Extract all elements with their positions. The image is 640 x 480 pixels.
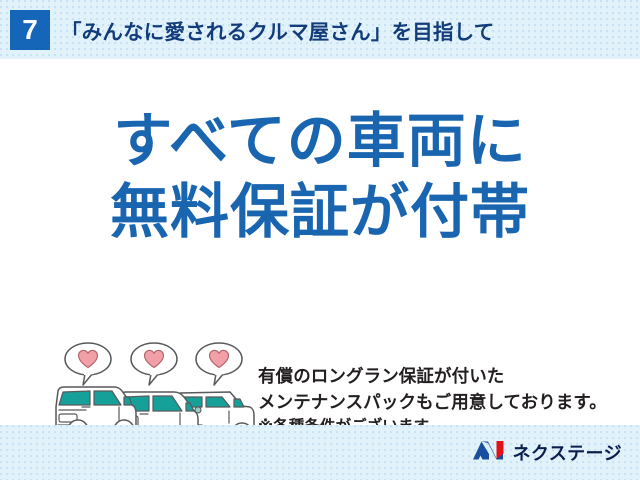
- main-content: すべての車両に 無料保証が付帯: [0, 59, 640, 425]
- header-content: 7 「みんなに愛されるクルマ屋さん」を目指して: [0, 0, 640, 59]
- note-line-1: 有償のロングラン保証が付いた: [258, 364, 630, 390]
- note-line-2: メンテナンスパックもご用意しております。: [258, 390, 630, 416]
- headline-line-2: 無料保証が付帯: [0, 177, 640, 248]
- lower-row: 有償のロングラン保証が付いた メンテナンスパックもご用意しております。 ※各種条…: [0, 281, 640, 411]
- header-band: 7 「みんなに愛されるクルマ屋さん」を目指して: [0, 0, 640, 59]
- header-title: 「みんなに愛されるクルマ屋さん」を目指して: [61, 15, 494, 45]
- brand-logo: ネクステージ: [472, 438, 623, 467]
- nextage-n-mark-icon: [472, 438, 506, 467]
- brand-name: ネクステージ: [513, 440, 623, 466]
- footer-band: ネクステージ: [0, 425, 640, 480]
- heart-bubble-1: [65, 343, 111, 385]
- headline: すべての車両に 無料保証が付帯: [0, 106, 640, 248]
- headline-line-1: すべての車両に: [0, 106, 640, 177]
- heart-bubble-3: [196, 343, 242, 385]
- promo-banner: 7 「みんなに愛されるクルマ屋さん」を目指して すべての車両に 無料保証が付帯: [0, 0, 640, 480]
- heart-bubble-2: [131, 343, 177, 385]
- step-number-badge: 7: [10, 10, 50, 50]
